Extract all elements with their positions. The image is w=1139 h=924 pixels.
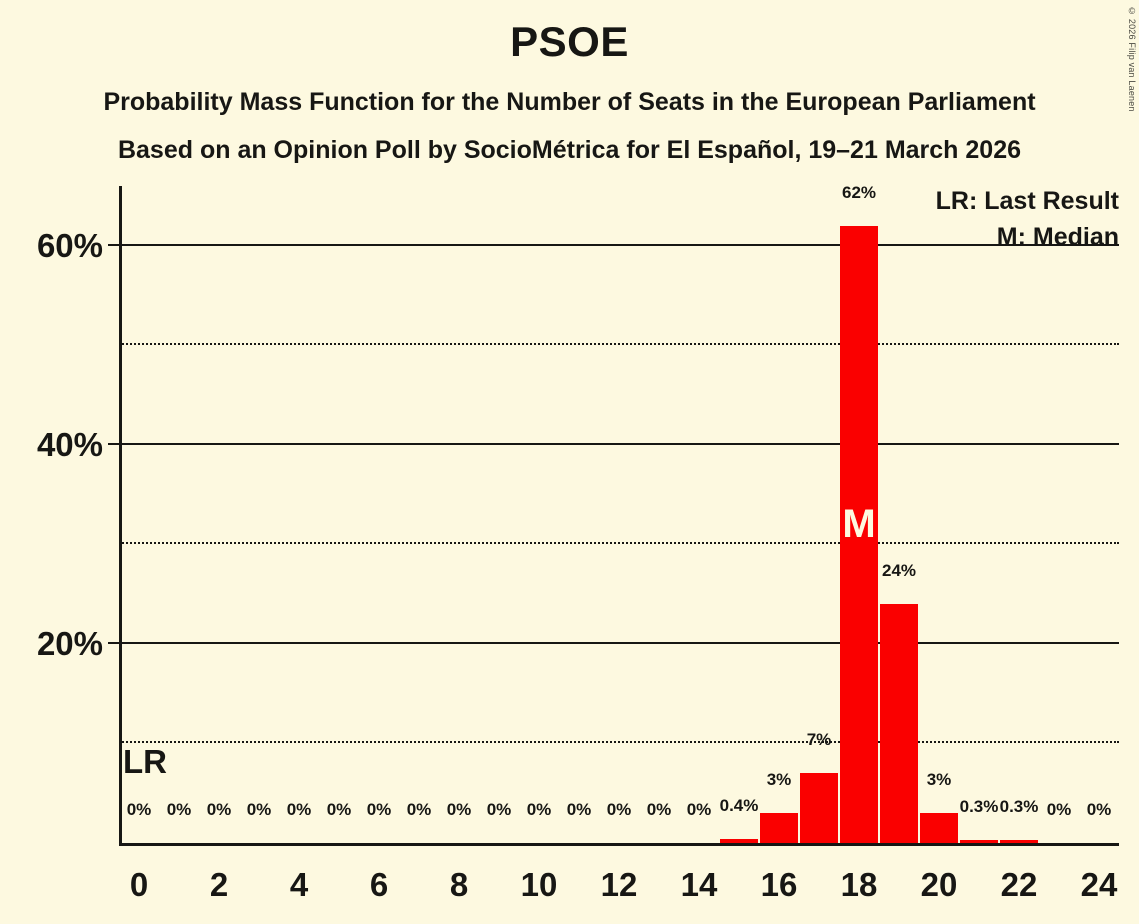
bar-value-label: 0% — [679, 800, 719, 820]
y-axis-label: 40% — [37, 426, 103, 464]
copyright-notice: © 2026 Filip van Laenen — [1127, 6, 1137, 112]
bar-value-label: 0% — [1079, 800, 1119, 820]
gridline-minor — [119, 741, 1119, 743]
bar — [760, 813, 798, 843]
bar-value-label: 0.4% — [719, 796, 759, 816]
x-axis-label: 4 — [290, 866, 308, 904]
gridline-minor — [119, 343, 1119, 345]
y-axis-label: 20% — [37, 625, 103, 663]
bar-value-label: 0% — [639, 800, 679, 820]
chart-subtitle-secondary: Based on an Opinion Poll by SocioMétrica… — [0, 136, 1139, 165]
bar-value-label: 0% — [1039, 800, 1079, 820]
x-axis-label: 22 — [1001, 866, 1038, 904]
bar-value-label: 7% — [799, 730, 839, 750]
x-axis-label: 16 — [761, 866, 798, 904]
bar-value-label: 0% — [599, 800, 639, 820]
bar-value-label: 0% — [519, 800, 559, 820]
bar — [880, 604, 918, 843]
last-result-marker: LR — [123, 745, 167, 778]
gridline-major — [119, 443, 1119, 445]
x-axis-label: 10 — [521, 866, 558, 904]
bar-value-label: 0% — [319, 800, 359, 820]
bar-value-label: 0.3% — [959, 797, 999, 817]
bar-value-label: 0.3% — [999, 797, 1039, 817]
x-axis-line — [119, 843, 1119, 846]
bar — [800, 773, 838, 843]
x-axis-label: 0 — [130, 866, 148, 904]
legend-item-last-result: LR: Last Result — [936, 184, 1119, 220]
legend-item-median: M: Median — [936, 220, 1119, 256]
bar-value-label: 0% — [359, 800, 399, 820]
y-axis-tick — [108, 642, 119, 644]
x-axis-label: 20 — [921, 866, 958, 904]
chart-subtitle-primary: Probability Mass Function for the Number… — [0, 88, 1139, 117]
median-marker: M — [839, 504, 879, 544]
gridline-major — [119, 642, 1119, 644]
y-axis-tick — [108, 244, 119, 246]
pmf-chart: PSOE Probability Mass Function for the N… — [0, 0, 1139, 924]
bar-value-label: 0% — [399, 800, 439, 820]
bar-value-label: 0% — [159, 800, 199, 820]
bar — [920, 813, 958, 843]
plot-area: 0%0%0%0%0%0%0%0%0%0%0%0%0%0%0%0.4%3%7%62… — [119, 186, 1119, 846]
bar-value-label: 0% — [559, 800, 599, 820]
bar-value-label: 0% — [479, 800, 519, 820]
gridline-minor — [119, 542, 1119, 544]
x-axis-label: 8 — [450, 866, 468, 904]
bar-value-label: 3% — [919, 770, 959, 790]
x-axis-label: 2 — [210, 866, 228, 904]
chart-legend: LR: Last Result M: Median — [936, 184, 1119, 255]
x-axis-labels: 024681012141618202224 — [119, 866, 1119, 911]
x-axis-label: 24 — [1081, 866, 1118, 904]
x-axis-label: 6 — [370, 866, 388, 904]
x-axis-label: 12 — [601, 866, 638, 904]
bar-value-label: 0% — [119, 800, 159, 820]
bar-value-label: 0% — [239, 800, 279, 820]
y-axis-tick — [108, 443, 119, 445]
y-axis-line — [119, 186, 122, 846]
page-title: PSOE — [0, 18, 1139, 66]
bar-value-label: 0% — [279, 800, 319, 820]
x-axis-label: 18 — [841, 866, 878, 904]
bar-value-label: 3% — [759, 770, 799, 790]
bar-value-label: 0% — [439, 800, 479, 820]
x-axis-label: 14 — [681, 866, 718, 904]
bar-value-label: 0% — [199, 800, 239, 820]
bar-value-label: 62% — [839, 183, 879, 203]
y-axis-label: 60% — [37, 227, 103, 265]
bar-value-label: 24% — [879, 561, 919, 581]
